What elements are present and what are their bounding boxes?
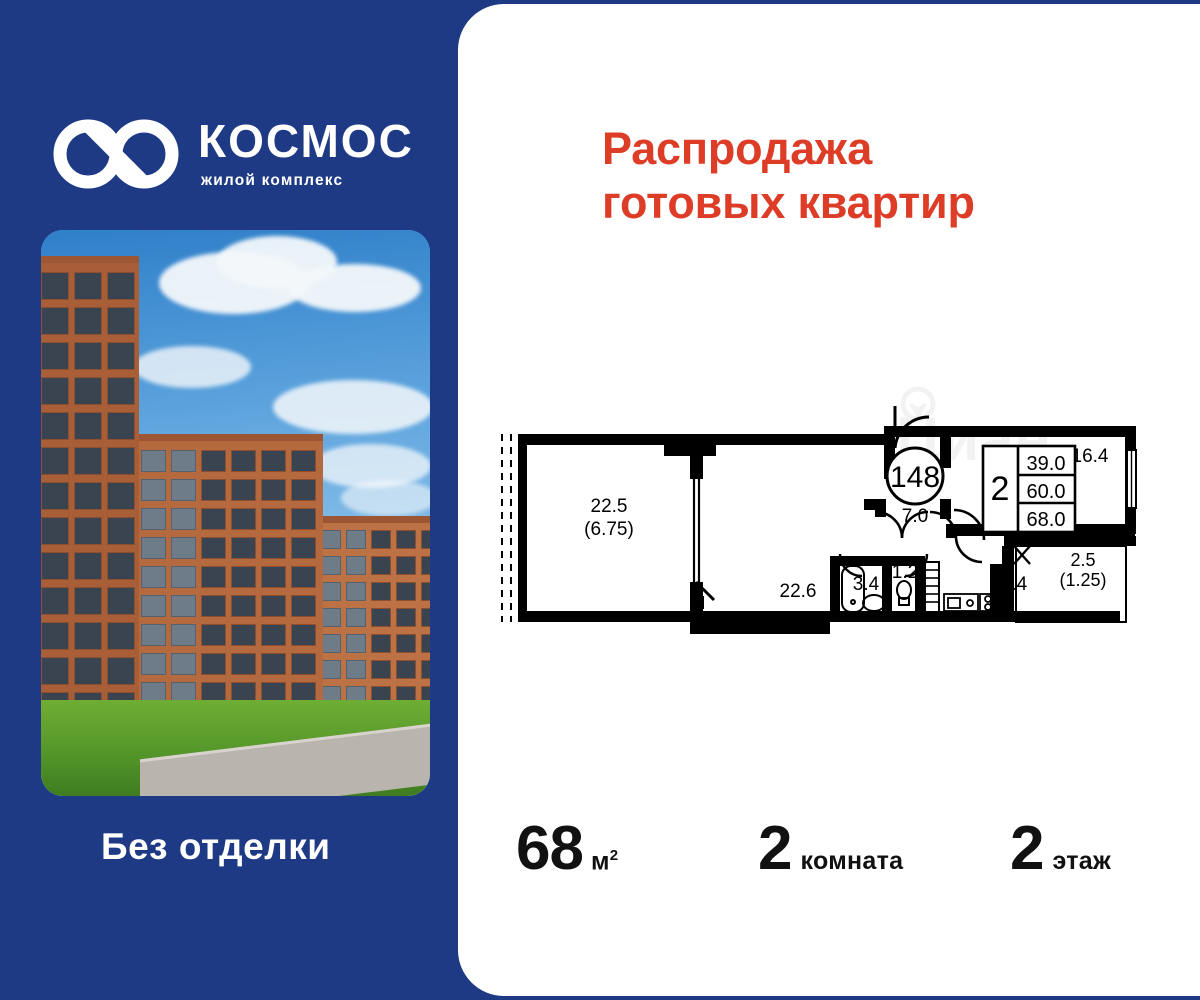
summary-stats: 68 м2 2 комната 2 этаж	[458, 804, 1200, 914]
plot-boundary-line	[502, 434, 511, 622]
room-area-living: 22.6	[780, 581, 817, 602]
kitchen-sink-fixture	[944, 594, 978, 611]
room-area-bathroom: 3.4	[853, 574, 880, 595]
spec-living-area: 39.0	[1027, 453, 1066, 475]
cloud-shape	[341, 480, 430, 516]
stat-rooms-unit: комната	[800, 847, 903, 876]
building-photo	[41, 230, 430, 796]
building-block-middle	[133, 434, 323, 734]
room-area-balcony-reduced: (1.25)	[1059, 570, 1106, 590]
spec-total-area: 68.0	[1027, 509, 1066, 531]
stat-rooms: 2 комната	[758, 818, 903, 880]
apartment-number-badge: 148	[887, 448, 943, 504]
stat-area-unit: м2	[591, 847, 618, 876]
headline-line-2: готовых квартир	[602, 176, 1162, 230]
spec-table: 2 39.0 60.0 68.0	[983, 446, 1075, 532]
cloud-shape	[273, 380, 430, 434]
left-brand-panel: КОСМОС жилой комплекс Без отдел	[0, 0, 500, 1000]
door-swing-arcs	[876, 510, 984, 562]
brand-logo-text: КОСМОС жилой комплекс	[198, 118, 414, 190]
building-block-left	[41, 256, 139, 734]
room-area-wc: 1.2	[892, 562, 918, 583]
room-area-terrace-reduced: (6.75)	[584, 519, 634, 540]
stat-floor-unit: этаж	[1052, 847, 1111, 876]
stat-floor-value: 2	[1010, 818, 1043, 880]
toilet-fixture	[897, 581, 911, 605]
window-bedroom	[1127, 450, 1136, 508]
brand-logo: КОСМОС жилой комплекс	[52, 118, 414, 190]
floor-plan-drawing: 22.5 (6.75) 22.6 7.0 16.4 9.4 3.4 1.2 2.…	[478, 404, 1178, 654]
ventilation-shaft	[925, 562, 939, 614]
cloud-shape	[289, 264, 421, 312]
apartment-number: 148	[890, 461, 940, 494]
infinity-loops-icon	[52, 118, 180, 190]
headline-line-1: Распродажа	[602, 123, 872, 174]
room-area-kitchen: 9.4	[1001, 574, 1028, 595]
room-area-terrace: 22.5	[591, 496, 628, 517]
room-area-balcony: 2.5	[1070, 550, 1095, 570]
stat-area-value: 68	[516, 818, 583, 880]
brand-name: КОСМОС	[198, 118, 414, 164]
room-area-bedroom: 16.4	[1072, 446, 1109, 467]
offer-card: Распродажа готовых квартир Циан	[458, 4, 1200, 996]
brand-tagline: жилой комплекс	[201, 172, 343, 190]
room-area-hall: 7.0	[902, 506, 928, 527]
page-title: Распродажа готовых квартир	[602, 122, 1162, 230]
sink-fixture	[863, 595, 885, 611]
stat-rooms-value: 2	[758, 818, 791, 880]
stat-floor: 2 этаж	[1010, 818, 1111, 880]
spec-rooms: 2	[991, 470, 1010, 508]
spec-area-without-balcony: 60.0	[1027, 481, 1066, 503]
cloud-shape	[133, 346, 251, 388]
stat-area: 68 м2	[516, 818, 618, 880]
floor-plan: 22.5 (6.75) 22.6 7.0 16.4 9.4 3.4 1.2 2.…	[478, 404, 1178, 654]
finishing-caption: Без отделки	[101, 826, 331, 868]
